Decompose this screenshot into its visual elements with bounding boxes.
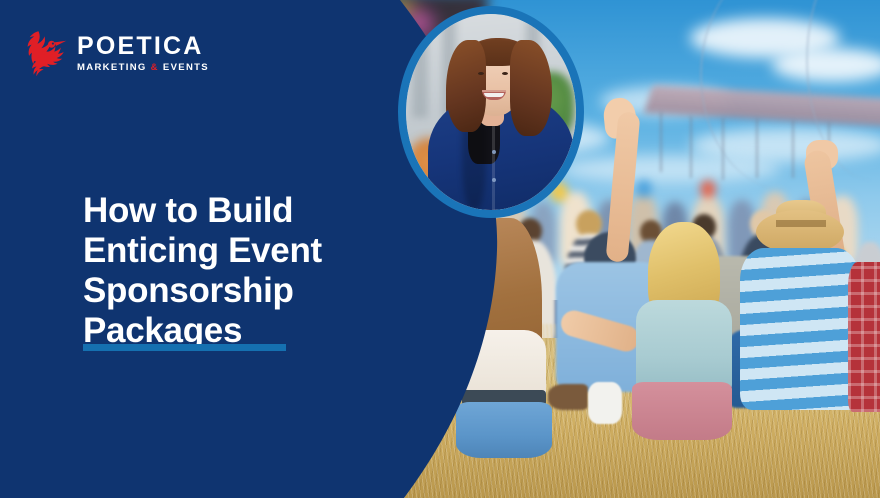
- avatar: [398, 6, 584, 218]
- hat-band: [776, 220, 826, 227]
- person-blue-skirt: [456, 402, 552, 458]
- background-column: [412, 22, 428, 118]
- tagline-ampersand: &: [151, 62, 159, 73]
- avatar-button: [492, 178, 496, 182]
- person-sock: [588, 382, 622, 424]
- avatar-eye: [478, 72, 484, 75]
- person-plaid-shirt: [848, 262, 880, 412]
- avatar-hair-left: [446, 40, 486, 132]
- person-striped-shirt: [740, 248, 860, 410]
- marketing-banner: POETICA MARKETING & EVENTS How to Build …: [0, 0, 880, 498]
- page-title: How to Build Enticing Event Sponsorship …: [83, 191, 413, 351]
- person-shoe: [548, 384, 588, 410]
- headline-line-3: Sponsorship: [83, 271, 413, 311]
- brand-name: POETICA: [77, 34, 209, 59]
- tagline-after: EVENTS: [159, 62, 209, 73]
- brand-logo[interactable]: POETICA MARKETING & EVENTS: [24, 30, 209, 76]
- avatar-blouse-placket: [492, 114, 495, 210]
- person-pink-skirt: [632, 382, 732, 440]
- tagline-before: MARKETING: [77, 62, 151, 73]
- brand-logo-text: POETICA MARKETING & EVENTS: [77, 34, 209, 73]
- phoenix-bird-icon: [24, 30, 68, 76]
- avatar-button: [492, 150, 496, 154]
- avatar-image: [406, 14, 576, 210]
- headline-line-1: How to Build: [83, 191, 413, 231]
- accent-underline-bar: [83, 344, 286, 351]
- brand-tagline: MARKETING & EVENTS: [77, 63, 209, 73]
- headline-line-2: Enticing Event: [83, 231, 413, 271]
- avatar-eye: [502, 72, 508, 75]
